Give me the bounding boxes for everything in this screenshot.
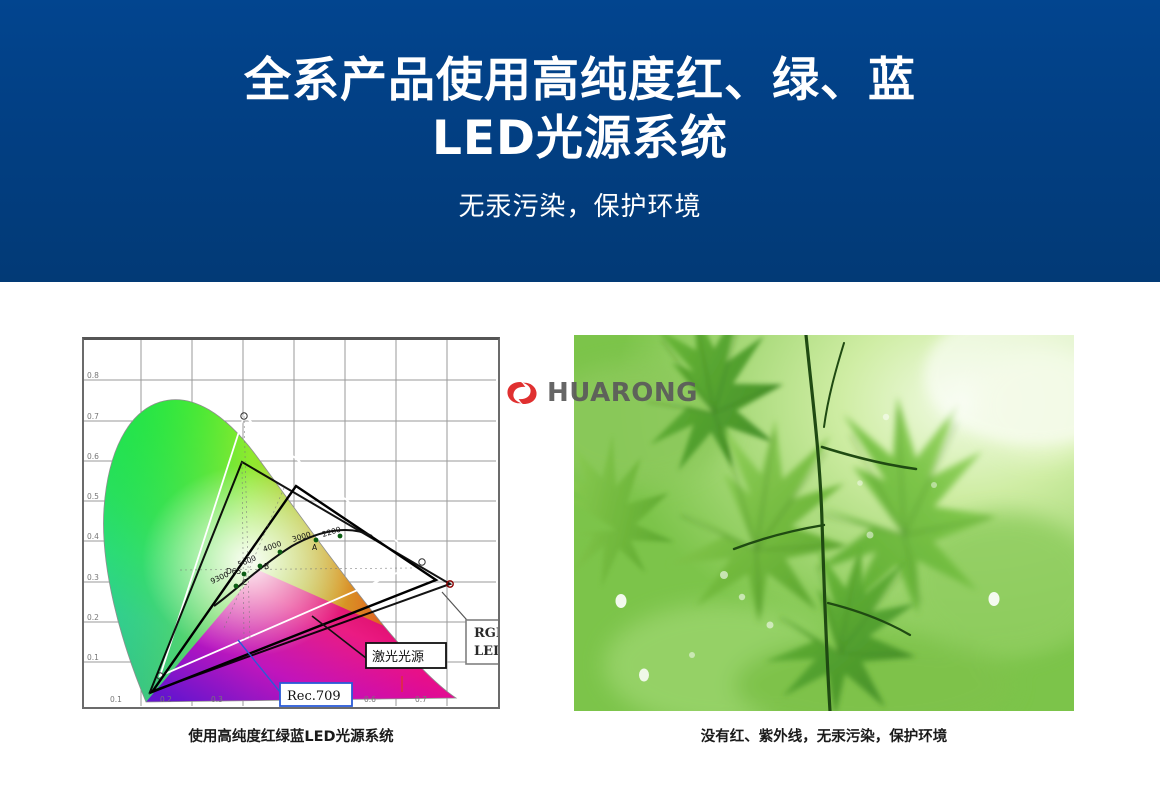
chart-svg: 2200 3000 4000 5600 9300 D65 A B C 0.1 0… — [84, 340, 498, 708]
caption-right: 没有红、紫外线，无汞污染，保护环境 — [574, 725, 1074, 746]
slide-page: 全系产品使用高纯度红、绿、蓝 LED光源系统 无汞污染，保护环境 — [0, 0, 1160, 792]
svg-text:C: C — [242, 578, 247, 587]
annotation-rgb-led-line1: RGB — [474, 626, 498, 641]
svg-text:0.1: 0.1 — [110, 695, 122, 704]
svg-text:0.1: 0.1 — [87, 653, 99, 662]
page-subtitle: 无汞污染，保护环境 — [458, 190, 701, 224]
annotation-rgb-led-line2: LED — [474, 644, 498, 659]
svg-text:0.7: 0.7 — [87, 412, 99, 421]
annotation-rec709-label: Rec.709 — [287, 689, 341, 704]
annotation-rgb-led: RGB LED — [466, 620, 498, 664]
header-text-block: 全系产品使用高纯度红、绿、蓝 LED光源系统 无汞污染，保护环境 — [0, 0, 1160, 282]
svg-text:0.5: 0.5 — [87, 492, 99, 501]
page-title-line-2: LED光源系统 — [432, 110, 728, 168]
leaf-photo — [574, 335, 1074, 711]
svg-text:0.7: 0.7 — [415, 695, 427, 704]
svg-text:0.6: 0.6 — [87, 452, 99, 461]
page-title-line-1: 全系产品使用高纯度红、绿、蓝 — [244, 52, 916, 110]
svg-text:0.3: 0.3 — [87, 573, 99, 582]
caption-row: 使用高纯度红绿蓝LED光源系统 没有红、紫外线，无汞污染，保护环境 — [0, 725, 1160, 755]
svg-text:0.8: 0.8 — [87, 371, 99, 380]
svg-text:0.6: 0.6 — [364, 695, 376, 704]
header-banner: 全系产品使用高纯度红、绿、蓝 LED光源系统 无汞污染，保护环境 — [0, 0, 1160, 282]
caption-left: 使用高纯度红绿蓝LED光源系统 — [82, 725, 500, 746]
svg-text:0.2: 0.2 — [87, 613, 99, 622]
svg-text:D65: D65 — [226, 567, 242, 576]
annotation-rec709: Rec.709 — [280, 683, 352, 706]
leaf-photo-svg — [574, 335, 1074, 711]
annotation-laser-label: 激光光源 — [372, 650, 424, 665]
svg-text:0.2: 0.2 — [160, 695, 172, 704]
svg-text:B: B — [264, 562, 269, 571]
chart-frame: 2200 3000 4000 5600 9300 D65 A B C 0.1 0… — [82, 337, 500, 709]
content-area: 2200 3000 4000 5600 9300 D65 A B C 0.1 0… — [0, 282, 1160, 792]
cie-chromaticity-chart: 2200 3000 4000 5600 9300 D65 A B C 0.1 0… — [82, 337, 500, 709]
svg-text:A: A — [312, 543, 318, 552]
svg-text:0.4: 0.4 — [87, 532, 99, 541]
svg-text:0.3: 0.3 — [211, 695, 223, 704]
annotation-laser-source: 激光光源 — [366, 643, 446, 668]
